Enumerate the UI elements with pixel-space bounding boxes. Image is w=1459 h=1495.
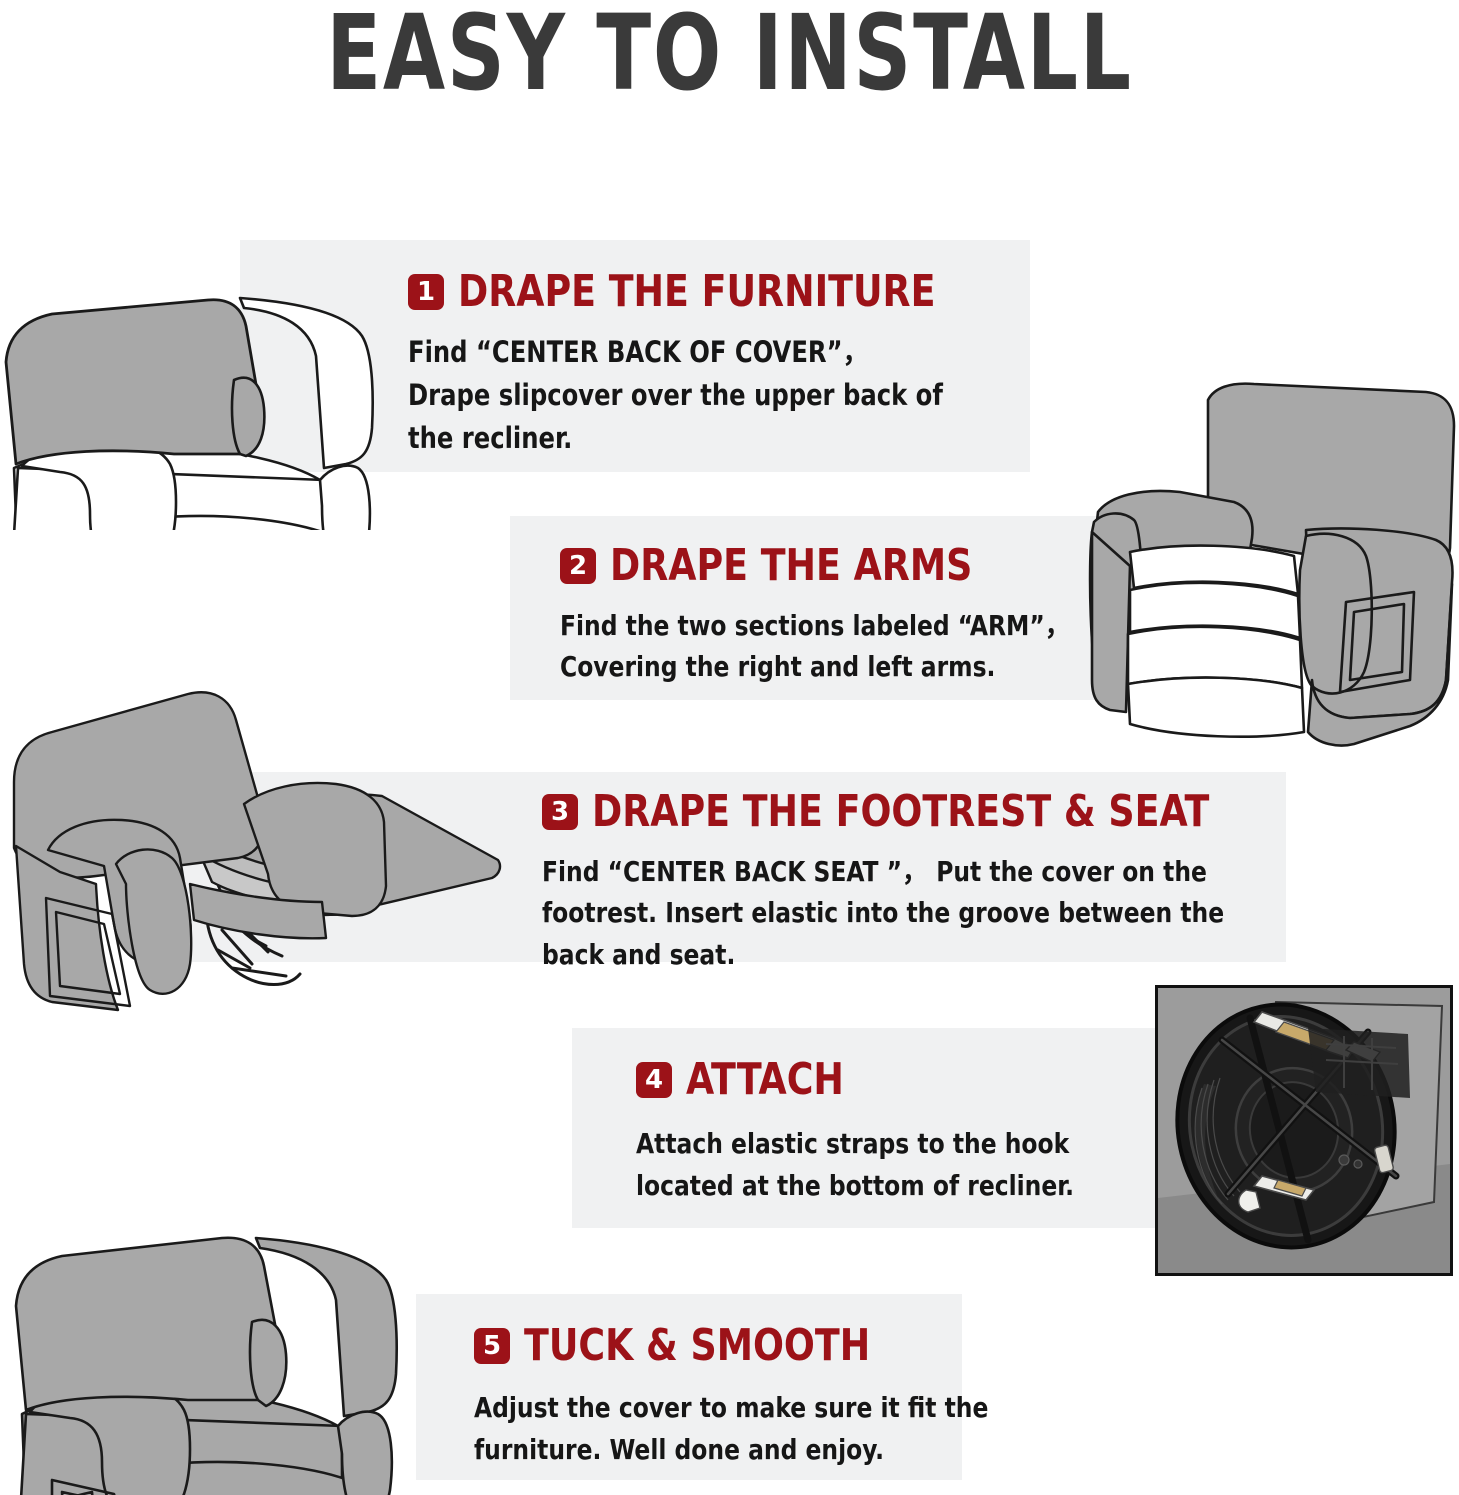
step-4-line-2: located at the bottom of recliner. [636, 1165, 1120, 1207]
step-5-line-2: furniture. Well done and enjoy. [474, 1429, 939, 1471]
step-2-line-1: Find the two sections labeled “ARM”， [560, 605, 1118, 646]
infographic-page: EASY TO INSTALL [0, 0, 1459, 1495]
step-4-badge: 4 [636, 1062, 672, 1098]
step-1-badge: 1 [408, 274, 444, 310]
step-1-line-1: Find “CENTER BACK OF COVER”， [408, 331, 966, 374]
step-5-title: TUCK & SMOOTH [524, 1320, 870, 1371]
step-3-line-2: footrest. Insert elastic into the groove… [542, 892, 1249, 933]
step-2-content: 2 DRAPE THE ARMS Find the two sections l… [560, 540, 1160, 688]
step-5-line-1: Adjust the cover to make sure it fit the [474, 1387, 939, 1429]
step-1-content: 1 DRAPE THE FURNITURE Find “CENTER BACK … [408, 266, 1008, 460]
step-3-content: 3 DRAPE THE FOOTREST & SEAT Find “CENTER… [542, 786, 1302, 975]
illustration-recliner-back-covered [0, 150, 394, 530]
step-2-title: DRAPE THE ARMS [610, 540, 972, 591]
step-5-badge: 5 [474, 1328, 510, 1364]
step-3-badge: 3 [542, 794, 578, 830]
step-5-heading: 5 TUCK & SMOOTH [474, 1320, 974, 1371]
step-2-heading: 2 DRAPE THE ARMS [560, 540, 1160, 591]
step-2-badge: 2 [560, 548, 596, 584]
illustration-recliner-fully-covered [0, 1128, 420, 1495]
step-4-line-1: Attach elastic straps to the hook [636, 1123, 1120, 1165]
step-2-line-2: Covering the right and left arms. [560, 646, 1118, 687]
page-title: EASY TO INSTALL [102, 0, 1357, 110]
step-3-heading: 3 DRAPE THE FOOTREST & SEAT [542, 786, 1302, 837]
step-1-body: Find “CENTER BACK OF COVER”， Drape slipc… [408, 331, 966, 460]
step-1-title: DRAPE THE FURNITURE [458, 266, 935, 317]
step-3-line-1: Find “CENTER BACK SEAT ”， Put the cover … [542, 851, 1249, 892]
covered-region-back [6, 300, 259, 464]
step-2-body: Find the two sections labeled “ARM”， Cov… [560, 605, 1118, 688]
step-4-body: Attach elastic straps to the hook locate… [636, 1123, 1120, 1207]
illustration-recliner-reclined-footrest [0, 668, 520, 1013]
step-5-body: Adjust the cover to make sure it fit the… [474, 1387, 939, 1471]
step-1-line-2: Drape slipcover over the upper back of [408, 374, 966, 417]
step-3-title: DRAPE THE FOOTREST & SEAT [592, 786, 1209, 837]
step-4-title: ATTACH [686, 1054, 844, 1105]
step-3-body: Find “CENTER BACK SEAT ”， Put the cover … [542, 851, 1249, 975]
step-3-line-3: back and seat. [542, 934, 1249, 975]
step-5-content: 5 TUCK & SMOOTH Adjust the cover to make… [474, 1320, 974, 1471]
step-4-content: 4 ATTACH Attach elastic straps to the ho… [636, 1054, 1156, 1207]
step-4-heading: 4 ATTACH [636, 1054, 1156, 1105]
step-1-line-3: the recliner. [408, 417, 966, 460]
step-1-heading: 1 DRAPE THE FURNITURE [408, 266, 1008, 317]
illustration-recliner-underside-photo [1155, 985, 1453, 1276]
